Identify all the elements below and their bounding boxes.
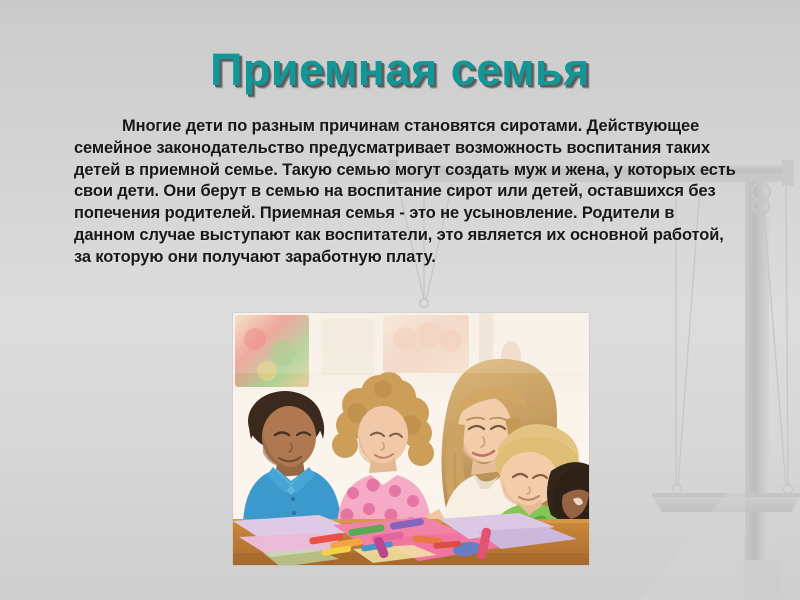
foster-family-photo: [233, 313, 589, 565]
slide-title: Приемная семья: [0, 44, 800, 96]
slide-body-text: Многие дети по разным причинам становятс…: [74, 116, 738, 269]
presentation-slide: Приемная семья Многие дети по разным при…: [0, 0, 800, 600]
scales-post-icon: [735, 170, 781, 600]
